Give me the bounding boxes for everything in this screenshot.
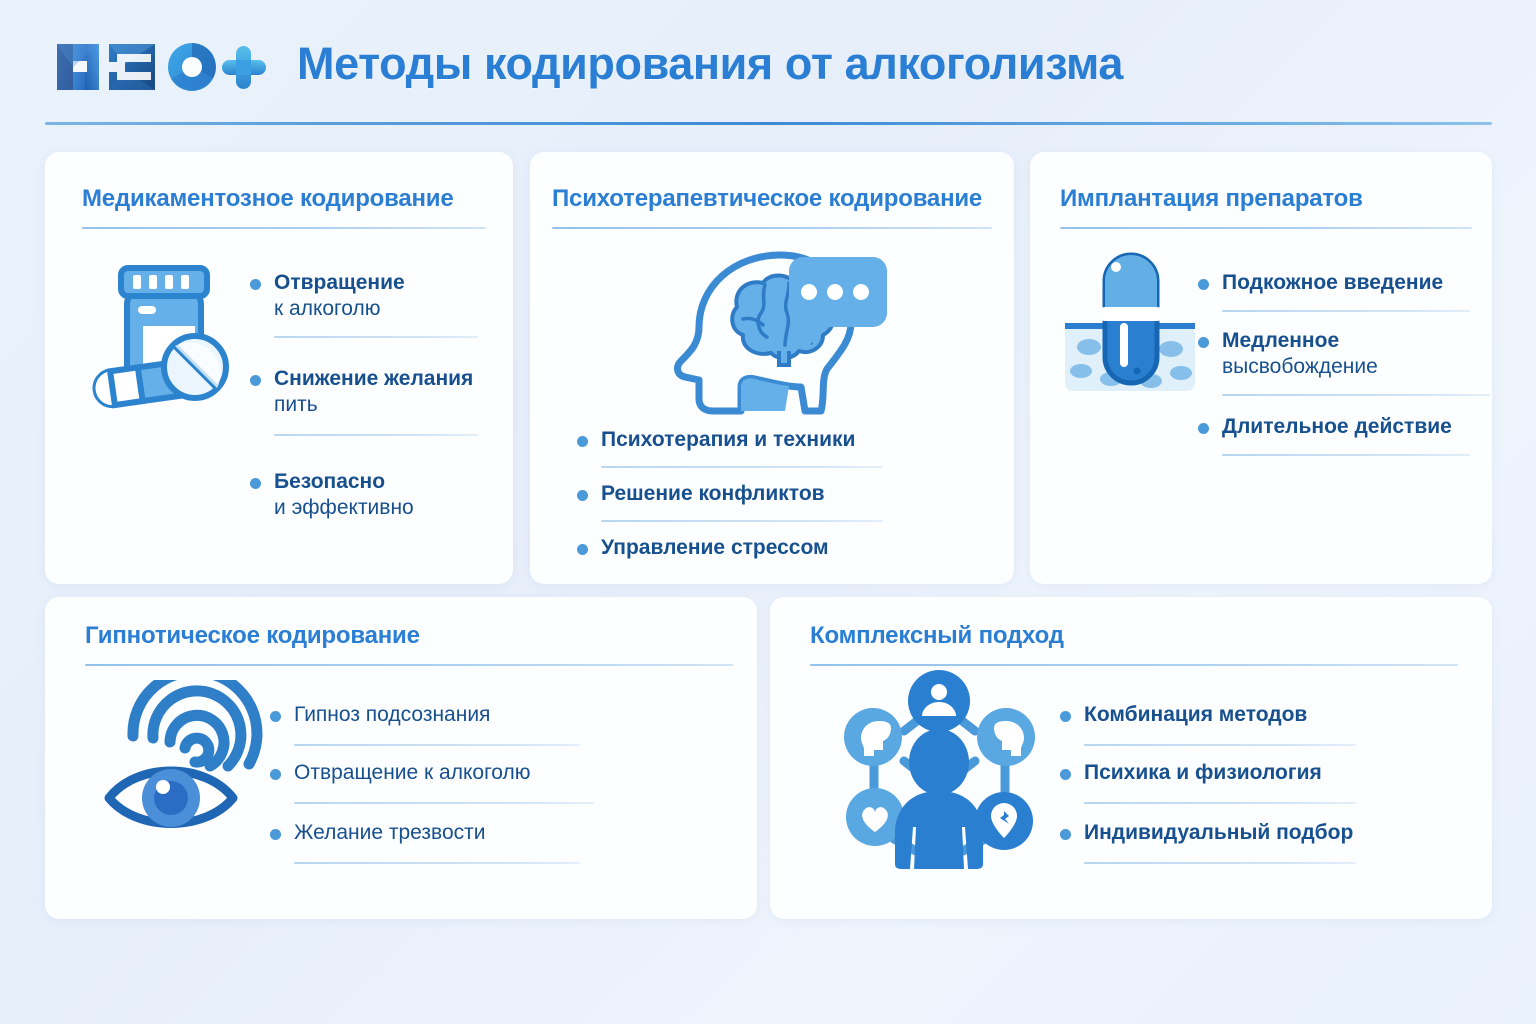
- item-separator: [1222, 310, 1470, 312]
- list-item[interactable]: Управление стрессом: [577, 535, 977, 583]
- card-title: Медикаментозное кодирование: [82, 185, 454, 213]
- list-item[interactable]: Отвращение к алкоголю: [250, 270, 478, 350]
- bullet-list: Подкожное введение Медленное высвобожден…: [1198, 270, 1470, 472]
- item-separator: [601, 466, 883, 468]
- list-item[interactable]: Комбинация методов: [1060, 702, 1450, 760]
- card-hypnotic-coding[interactable]: Гипнотическое кодирование: [45, 597, 757, 919]
- bullet-dot: [270, 829, 281, 840]
- bullet-dot: [250, 478, 261, 489]
- card-title: Гипнотическое кодирование: [85, 622, 420, 650]
- item-separator: [1084, 802, 1356, 804]
- list-item-line1: Гипноз подсознания: [270, 702, 630, 728]
- item-separator: [1084, 744, 1356, 746]
- item-separator: [601, 520, 883, 522]
- list-item[interactable]: Длительное действие: [1198, 414, 1470, 472]
- card-psychotherapy-coding[interactable]: Психотерапевтическое кодирование: [530, 152, 1014, 584]
- card-title: Имплантация препаратов: [1060, 185, 1363, 213]
- list-item[interactable]: Безопасно и эффективно: [250, 469, 478, 539]
- item-separator: [294, 744, 580, 746]
- bullet-dot: [577, 436, 588, 447]
- list-item-line1: Снижение желания: [250, 366, 478, 392]
- card-title-rule: [1060, 227, 1472, 229]
- card-title: Комплексный подход: [810, 622, 1064, 650]
- list-item[interactable]: Желание трезвости: [270, 820, 630, 878]
- card-implantation[interactable]: Имплантация препаратов: [1030, 152, 1492, 584]
- head-brain-speech-icon: [655, 247, 895, 417]
- list-item[interactable]: Отвращение к алкоголю: [270, 760, 630, 820]
- card-title-rule: [810, 664, 1458, 666]
- bullet-list: Отвращение к алкоголю Снижение желания п…: [250, 270, 478, 539]
- list-item[interactable]: Решение конфликтов: [577, 481, 977, 535]
- item-separator: [274, 336, 478, 338]
- card-title-rule: [552, 227, 992, 229]
- infographic-page: Методы кодирования от алкоголизма Медика…: [0, 0, 1536, 1024]
- bullet-dot: [1198, 279, 1209, 290]
- list-item[interactable]: Психотерапия и техники: [577, 427, 977, 481]
- list-item-line1: Управление стрессом: [577, 535, 977, 561]
- bullet-list: Комбинация методов Психика и физиология …: [1060, 702, 1450, 878]
- list-item-line1: Отвращение: [250, 270, 478, 296]
- card-complex-approach[interactable]: Комплексный подход: [770, 597, 1492, 919]
- list-item-line1: Отвращение к алкоголю: [270, 760, 630, 786]
- list-item[interactable]: Медленное высвобождение: [1198, 328, 1470, 414]
- list-item-line2: пить: [250, 392, 478, 418]
- bullet-dot: [270, 711, 281, 722]
- list-item-line1: Комбинация методов: [1060, 702, 1450, 728]
- bullet-dot: [1198, 337, 1209, 348]
- bullet-dot: [1060, 769, 1071, 780]
- list-item-line1: Психика и физиология: [1060, 760, 1450, 786]
- bullet-dot: [1060, 711, 1071, 722]
- bullet-dot: [250, 279, 261, 290]
- list-item-line1: Безопасно: [250, 469, 478, 495]
- bullet-dot: [577, 490, 588, 501]
- bullet-dot: [577, 544, 588, 555]
- list-item-line1: Решение конфликтов: [577, 481, 977, 507]
- list-item-line1: Медленное: [1198, 328, 1470, 354]
- list-item-line1: Подкожное введение: [1198, 270, 1470, 296]
- neo-plus-logo-icon: [53, 36, 268, 98]
- hypnosis-eye-spiral-icon: [103, 680, 268, 830]
- item-separator: [1222, 394, 1490, 396]
- bullet-dot: [250, 375, 261, 386]
- page-title: Методы кодирования от алкоголизма: [297, 38, 1123, 90]
- card-title-rule: [82, 227, 486, 229]
- item-separator: [274, 434, 478, 436]
- list-item[interactable]: Индивидуальный подбор: [1060, 820, 1450, 878]
- list-item-line2: к алкоголю: [250, 296, 478, 322]
- list-item-line2: и эффективно: [250, 495, 478, 521]
- bullet-dot: [270, 769, 281, 780]
- list-item[interactable]: Снижение желания пить: [250, 366, 478, 459]
- list-item-line1: Желание трезвости: [270, 820, 630, 846]
- card-title-rule: [85, 664, 733, 666]
- item-separator: [1084, 862, 1356, 864]
- list-item-line1: Индивидуальный подбор: [1060, 820, 1450, 846]
- bullet-dot: [1060, 829, 1071, 840]
- bullet-list: Психотерапия и техники Решение конфликто…: [577, 427, 977, 583]
- item-separator: [294, 862, 580, 864]
- network-people-icon: [832, 669, 1047, 869]
- pill-bottle-icon: [83, 254, 243, 414]
- item-separator: [1222, 454, 1470, 456]
- card-title: Психотерапевтическое кодирование: [552, 185, 982, 213]
- list-item-line1: Психотерапия и техники: [577, 427, 977, 453]
- list-item[interactable]: Подкожное введение: [1198, 270, 1470, 328]
- header: Методы кодирования от алкоголизма: [45, 28, 1492, 116]
- header-divider: [45, 122, 1492, 125]
- item-separator: [294, 802, 594, 804]
- list-item[interactable]: Гипноз подсознания: [270, 702, 630, 760]
- list-item-line1: Длительное действие: [1198, 414, 1470, 440]
- capsule-implant-icon: [1055, 247, 1205, 407]
- bullet-list: Гипноз подсознания Отвращение к алкоголю…: [270, 702, 630, 878]
- card-medication-coding[interactable]: Медикаментозное кодирование: [45, 152, 513, 584]
- list-item-line2: высвобождение: [1198, 354, 1470, 380]
- list-item[interactable]: Психика и физиология: [1060, 760, 1450, 820]
- bullet-dot: [1198, 423, 1209, 434]
